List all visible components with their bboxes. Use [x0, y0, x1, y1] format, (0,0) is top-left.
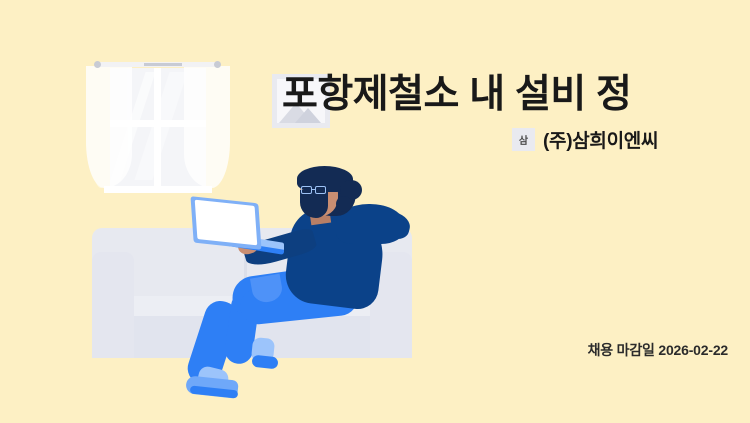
sofa-armrest-left: [92, 252, 134, 358]
curtain-left: [86, 66, 132, 188]
curtain-right: [184, 66, 230, 188]
person-glasses: [301, 186, 329, 194]
window-illustration: [96, 62, 220, 194]
application-deadline: 채용 마감일 2026-02-22: [588, 340, 728, 360]
title-row: 포항제철소 내 설비 정: [282, 72, 750, 119]
curtain-rod-knob-left: [94, 61, 101, 68]
curtain-rod-band: [144, 63, 182, 66]
window-mullion-vertical: [154, 68, 161, 186]
curtain-fold-left: [92, 70, 110, 188]
curtain-fold-right: [204, 70, 222, 188]
window-sill: [104, 186, 212, 193]
curtain-rod: [96, 62, 220, 67]
glasses-lens-left: [301, 186, 312, 194]
person-shoe-back: [251, 355, 278, 370]
glasses-lens-right: [315, 186, 326, 194]
person-beard: [300, 190, 328, 218]
person-hair-curl-lower: [336, 196, 352, 212]
page-title: 포항제철소 내 설비 정: [282, 73, 631, 116]
laptop-screen: [195, 200, 258, 246]
curtain-rod-knob-right: [214, 61, 221, 68]
company-row[interactable]: 삼 (주)삼희이엔씨: [512, 126, 658, 153]
company-name[interactable]: (주)삼희이엔씨: [543, 126, 658, 153]
job-poster: 포항제철소 내 설비 정 삼 (주)삼희이엔씨 채용 마감일 2026-02-2…: [0, 0, 750, 423]
company-logo-placeholder: 삼: [512, 128, 535, 151]
